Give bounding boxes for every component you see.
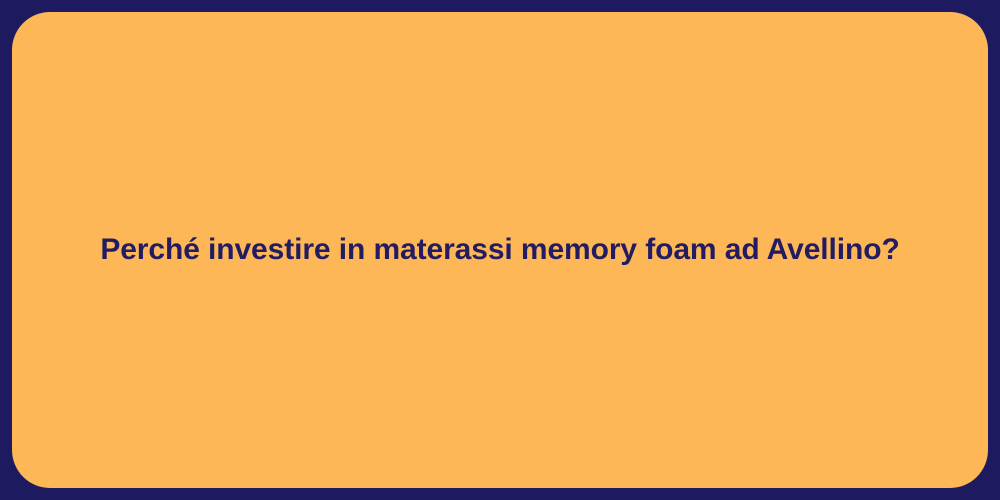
card-panel: Perché investire in materassi memory foa… bbox=[12, 12, 988, 488]
card-frame: Perché investire in materassi memory foa… bbox=[0, 0, 1000, 500]
page-title: Perché investire in materassi memory foa… bbox=[100, 231, 899, 269]
